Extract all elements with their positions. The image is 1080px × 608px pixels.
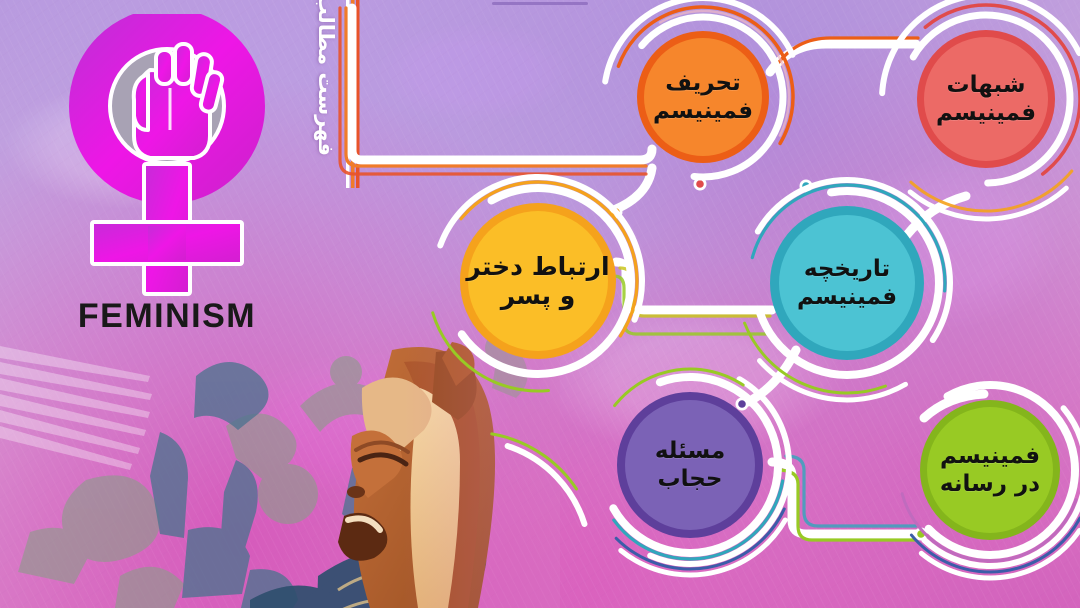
node-label: مسئله حجاب — [617, 437, 763, 493]
node-label: تاریخچه فمینیسم — [770, 255, 924, 311]
node-label: فمینیسم در رسانه — [920, 442, 1060, 498]
node-femnism-dar-resaneh[interactable]: فمینیسم در رسانه — [920, 400, 1060, 540]
node-label: ارتباط دختر و پسر — [460, 252, 616, 311]
node-tahrif-femnism[interactable]: تحریف فمینیسم — [637, 31, 769, 163]
mindmap-diagram: تحریف فمینیسم شبهات فمینیسم ارتباط دختر … — [0, 0, 1080, 608]
node-masaleh-hijab[interactable]: مسئله حجاب — [617, 392, 763, 538]
node-label: تحریف فمینیسم — [637, 69, 769, 125]
node-label: شبهات فمینیسم — [917, 71, 1055, 127]
node-ertebat-dokhtar-va-pesar[interactable]: ارتباط دختر و پسر — [460, 203, 616, 359]
node-tarikhche-femnism[interactable]: تاریخچه فمینیسم — [770, 206, 924, 360]
node-shobahat-femnism[interactable]: شبهات فمینیسم — [917, 30, 1055, 168]
slide-canvas: FEMINISM فهرست مطالب — [0, 0, 1080, 608]
